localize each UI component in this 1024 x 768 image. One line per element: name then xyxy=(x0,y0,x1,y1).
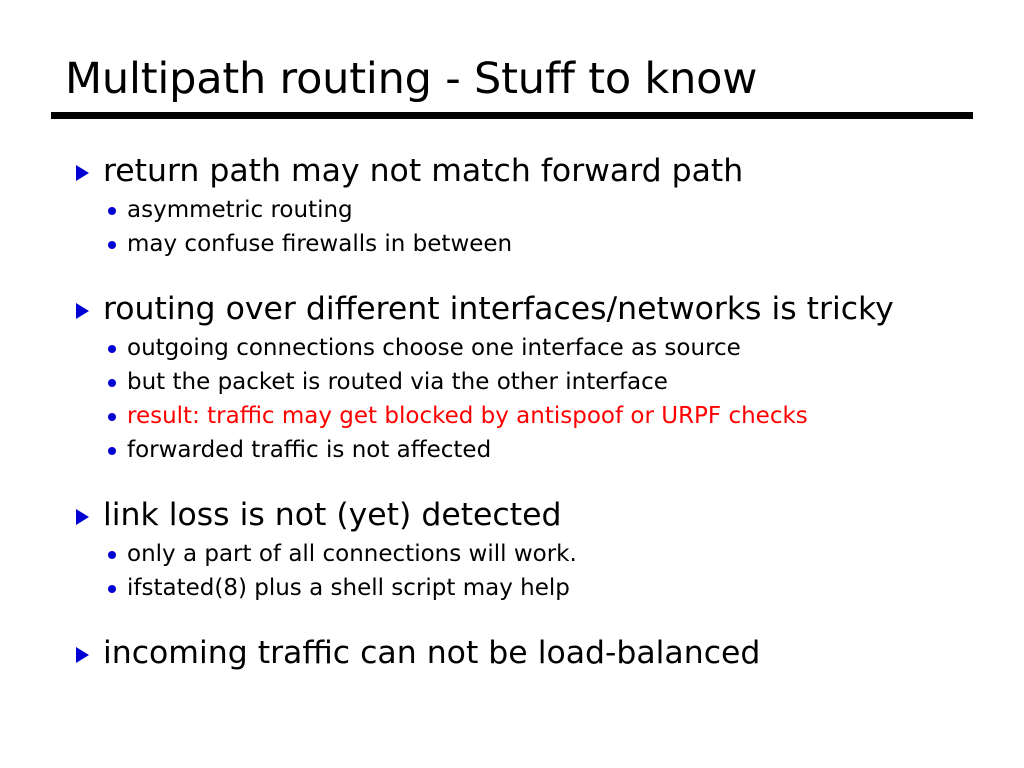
bullet-level2-list: only a part of all connections will work… xyxy=(0,537,1024,605)
dot-bullet-icon xyxy=(108,551,116,559)
bullet-group: link loss is not (yet) detected only a p… xyxy=(0,496,1024,605)
bullet-level2: outgoing connections choose one interfac… xyxy=(0,331,1024,365)
bullet-level1-label: link loss is not (yet) detected xyxy=(103,496,561,535)
bullet-level2-label: but the packet is routed via the other i… xyxy=(127,365,668,399)
bullet-level1: incoming traffic can not be load-balance… xyxy=(0,634,1024,673)
dot-bullet-icon xyxy=(108,413,116,421)
dot-bullet-icon xyxy=(108,345,116,353)
slide-body: return path may not match forward path a… xyxy=(0,152,1024,673)
bullet-level2-label: ifstated(8) plus a shell script may help xyxy=(127,571,570,605)
slide-canvas: Multipath routing - Stuff to know return… xyxy=(0,0,1024,768)
bullet-level2: may confuse firewalls in between xyxy=(0,227,1024,261)
bullet-level1: routing over different interfaces/networ… xyxy=(0,290,1024,329)
bullet-level2: ifstated(8) plus a shell script may help xyxy=(0,571,1024,605)
bullet-level2-label: asymmetric routing xyxy=(127,193,353,227)
dot-bullet-icon xyxy=(108,447,116,455)
bullet-level2: only a part of all connections will work… xyxy=(0,537,1024,571)
bullet-level2-label: only a part of all connections will work… xyxy=(127,537,577,571)
bullet-level1: link loss is not (yet) detected xyxy=(0,496,1024,535)
title-underline-rule xyxy=(51,112,973,119)
bullet-level1-label: routing over different interfaces/networ… xyxy=(103,290,894,329)
slide-header: Multipath routing - Stuff to know xyxy=(51,52,973,119)
dot-bullet-icon xyxy=(108,379,116,387)
bullet-group: return path may not match forward path a… xyxy=(0,152,1024,261)
triangle-right-bullet-icon xyxy=(76,647,89,663)
triangle-right-bullet-icon xyxy=(76,303,89,319)
triangle-right-bullet-icon xyxy=(76,509,89,525)
page-title: Multipath routing - Stuff to know xyxy=(51,52,973,106)
bullet-level2-list: outgoing connections choose one interfac… xyxy=(0,331,1024,467)
dot-bullet-icon xyxy=(108,207,116,215)
dot-bullet-icon xyxy=(108,585,116,593)
bullet-level2-label: may confuse firewalls in between xyxy=(127,227,512,261)
triangle-right-bullet-icon xyxy=(76,165,89,181)
bullet-level2-label: outgoing connections choose one interfac… xyxy=(127,331,741,365)
bullet-level2-list: asymmetric routing may confuse firewalls… xyxy=(0,193,1024,261)
bullet-level2: but the packet is routed via the other i… xyxy=(0,365,1024,399)
bullet-level1-label: return path may not match forward path xyxy=(103,152,743,191)
bullet-level2-label: forwarded traffic is not affected xyxy=(127,433,491,467)
bullet-group: incoming traffic can not be load-balance… xyxy=(0,634,1024,673)
bullet-level2: asymmetric routing xyxy=(0,193,1024,227)
bullet-level2-highlighted: result: traffic may get blocked by antis… xyxy=(0,399,1024,433)
bullet-level1: return path may not match forward path xyxy=(0,152,1024,191)
dot-bullet-icon xyxy=(108,241,116,249)
bullet-group: routing over different interfaces/networ… xyxy=(0,290,1024,467)
bullet-level2: forwarded traffic is not affected xyxy=(0,433,1024,467)
bullet-level2-label: result: traffic may get blocked by antis… xyxy=(127,399,808,433)
bullet-level1-label: incoming traffic can not be load-balance… xyxy=(103,634,760,673)
